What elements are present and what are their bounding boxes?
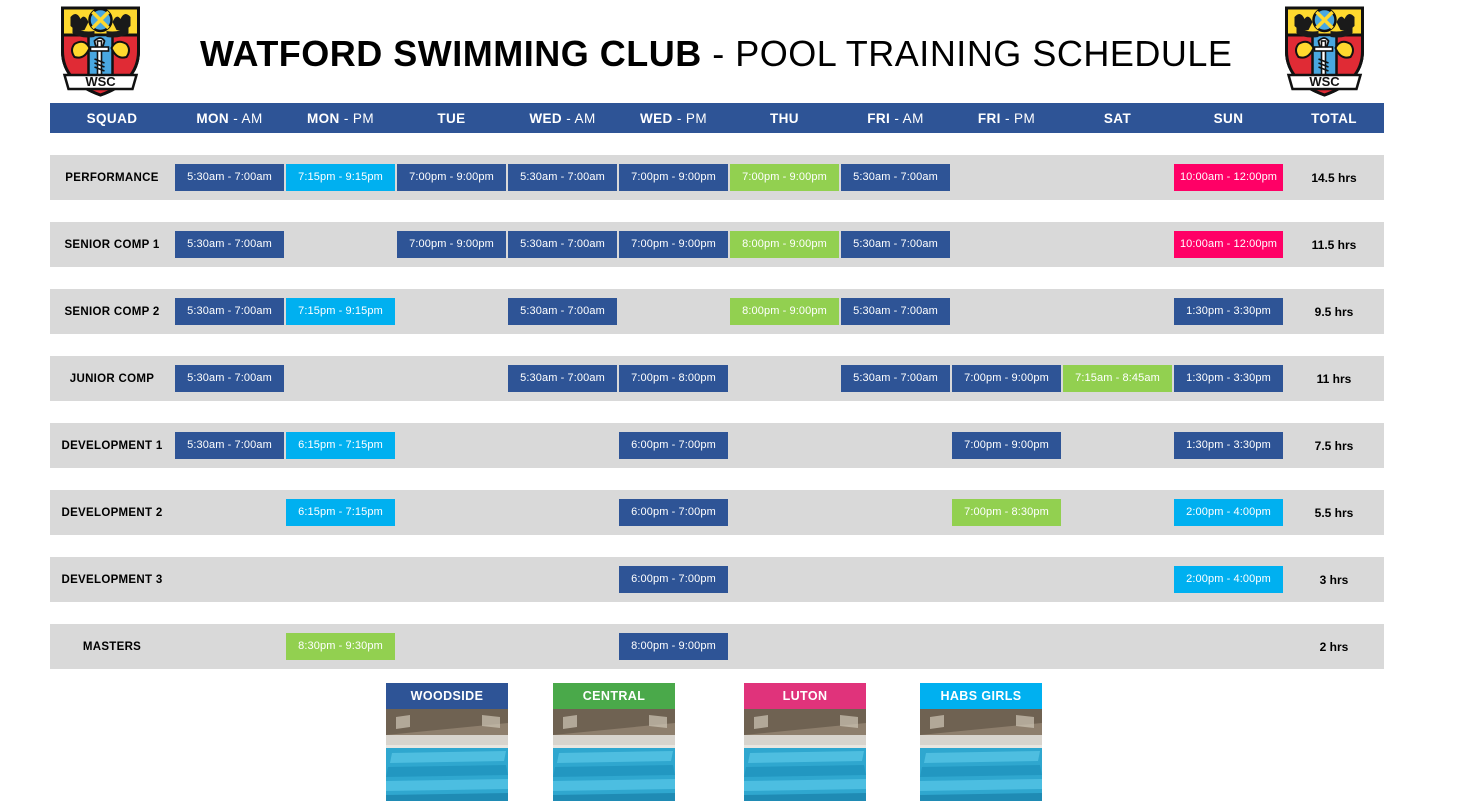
session-chip[interactable]: 7:00pm - 9:00pm — [397, 164, 506, 191]
pool-card-woodside[interactable]: WOODSIDE — [386, 683, 508, 801]
pool-photo — [920, 709, 1042, 801]
session-cell-mon_am[interactable]: 5:30am - 7:00am — [174, 289, 285, 334]
table-row[interactable]: DEVELOPMENT 36:00pm - 7:00pm2:00pm - 4:0… — [50, 557, 1384, 602]
table-row[interactable]: DEVELOPMENT 15:30am - 7:00am6:15pm - 7:1… — [50, 423, 1384, 468]
session-cell-thu — [729, 356, 840, 401]
session-chip[interactable]: 10:00am - 12:00pm — [1174, 164, 1283, 191]
column-header-wed_pm: WED - PM — [618, 111, 729, 126]
column-header-total: TOTAL — [1284, 111, 1384, 126]
row-spacer — [50, 602, 1384, 624]
session-cell-fri_pm — [951, 557, 1062, 602]
squad-name-cell: DEVELOPMENT 1 — [50, 440, 174, 452]
session-chip[interactable]: 2:00pm - 4:00pm — [1174, 566, 1283, 593]
session-cell-wed_am[interactable]: 5:30am - 7:00am — [507, 222, 618, 267]
session-chip[interactable]: 1:30pm - 3:30pm — [1174, 432, 1283, 459]
squad-name-cell: MASTERS — [50, 641, 174, 653]
session-chip[interactable]: 5:30am - 7:00am — [841, 164, 950, 191]
session-cell-fri_pm — [951, 155, 1062, 200]
session-chip[interactable]: 6:15pm - 7:15pm — [286, 432, 395, 459]
squad-name-cell: DEVELOPMENT 2 — [50, 507, 174, 519]
session-cell-sat — [1062, 222, 1173, 267]
session-chip[interactable]: 8:30pm - 9:30pm — [286, 633, 395, 660]
session-chip[interactable]: 1:30pm - 3:30pm — [1174, 298, 1283, 325]
session-chip[interactable]: 7:00pm - 9:00pm — [730, 164, 839, 191]
page-title: WATFORD SWIMMING CLUB - POOL TRAINING SC… — [200, 28, 1230, 82]
row-spacer — [50, 200, 1384, 222]
session-cell-sun[interactable]: 1:30pm - 3:30pm — [1173, 289, 1284, 334]
session-cell-fri_pm[interactable]: 7:00pm - 9:00pm — [951, 423, 1062, 468]
schedule-table: SQUADMON - AMMON - PMTUEWED - AMWED - PM… — [50, 103, 1384, 669]
session-chip[interactable]: 5:30am - 7:00am — [508, 231, 617, 258]
session-cell-sun[interactable]: 10:00am - 12:00pm — [1173, 222, 1284, 267]
session-chip[interactable]: 5:30am - 7:00am — [175, 298, 284, 325]
session-cell-sat[interactable]: 7:15am - 8:45am — [1062, 356, 1173, 401]
session-chip[interactable]: 5:30am - 7:00am — [508, 298, 617, 325]
column-header-label: WED — [529, 111, 562, 126]
session-chip[interactable]: 5:30am - 7:00am — [175, 432, 284, 459]
row-spacer — [50, 267, 1384, 289]
session-cell-wed_am — [507, 624, 618, 669]
pool-legend: WOODSIDECENTRALLUTONHABS GIRLS — [0, 683, 1472, 801]
column-header-label: SAT — [1104, 111, 1131, 126]
column-header-squad: SQUAD — [50, 111, 174, 126]
session-cell-mon_pm[interactable]: 7:15pm - 9:15pm — [285, 289, 396, 334]
session-cell-tue — [396, 490, 507, 535]
column-header-suffix: - PM — [340, 111, 374, 126]
session-chip[interactable]: 8:00pm - 9:00pm — [730, 298, 839, 325]
column-header-thu: THU — [729, 111, 840, 126]
session-chip[interactable]: 8:00pm - 9:00pm — [730, 231, 839, 258]
session-cell-mon_am — [174, 490, 285, 535]
pool-photo — [553, 709, 675, 801]
column-header-mon_pm: MON - PM — [285, 111, 396, 126]
session-cell-thu — [729, 423, 840, 468]
table-row[interactable]: MASTERS8:30pm - 9:30pm8:00pm - 9:00pm2 h… — [50, 624, 1384, 669]
session-cell-mon_am[interactable]: 5:30am - 7:00am — [174, 356, 285, 401]
session-cell-mon_pm[interactable]: 6:15pm - 7:15pm — [285, 490, 396, 535]
session-chip[interactable]: 10:00am - 12:00pm — [1174, 231, 1283, 258]
session-chip[interactable]: 5:30am - 7:00am — [175, 365, 284, 392]
session-cell-fri_am[interactable]: 5:30am - 7:00am — [840, 289, 951, 334]
session-cell-tue — [396, 557, 507, 602]
session-chip[interactable]: 2:00pm - 4:00pm — [1174, 499, 1283, 526]
session-cell-wed_pm — [618, 289, 729, 334]
session-cell-wed_am — [507, 490, 618, 535]
crest-text: WSC — [85, 74, 116, 89]
session-cell-wed_am[interactable]: 5:30am - 7:00am — [507, 356, 618, 401]
session-cell-sun — [1173, 624, 1284, 669]
session-chip[interactable]: 6:00pm - 7:00pm — [619, 432, 728, 459]
row-spacer — [50, 334, 1384, 356]
session-chip[interactable]: 6:00pm - 7:00pm — [619, 499, 728, 526]
session-cell-mon_pm — [285, 557, 396, 602]
table-row[interactable]: PERFORMANCE5:30am - 7:00am7:15pm - 9:15p… — [50, 155, 1384, 200]
session-cell-thu — [729, 557, 840, 602]
column-header-label: FRI — [867, 111, 890, 126]
column-header-wed_am: WED - AM — [507, 111, 618, 126]
column-header-mon_am: MON - AM — [174, 111, 285, 126]
session-cell-sat — [1062, 289, 1173, 334]
session-chip[interactable]: 6:00pm - 7:00pm — [619, 566, 728, 593]
pool-name-label: CENTRAL — [553, 683, 675, 709]
column-header-label: THU — [770, 111, 799, 126]
pool-name-label: WOODSIDE — [386, 683, 508, 709]
total-hours-cell: 5.5 hrs — [1284, 506, 1384, 520]
session-chip[interactable]: 1:30pm - 3:30pm — [1174, 365, 1283, 392]
total-hours-cell: 11.5 hrs — [1284, 238, 1384, 252]
total-hours-cell: 3 hrs — [1284, 573, 1384, 587]
total-hours-cell: 11 hrs — [1284, 372, 1384, 386]
total-hours-cell: 14.5 hrs — [1284, 171, 1384, 185]
session-chip[interactable]: 7:00pm - 9:00pm — [619, 164, 728, 191]
session-cell-wed_pm[interactable]: 8:00pm - 9:00pm — [618, 624, 729, 669]
session-cell-sun[interactable]: 10:00am - 12:00pm — [1173, 155, 1284, 200]
session-chip[interactable]: 7:00pm - 9:00pm — [952, 432, 1061, 459]
session-cell-fri_am[interactable]: 5:30am - 7:00am — [840, 222, 951, 267]
session-chip[interactable]: 5:30am - 7:00am — [841, 231, 950, 258]
session-cell-fri_am — [840, 624, 951, 669]
table-row[interactable]: JUNIOR COMP5:30am - 7:00am5:30am - 7:00a… — [50, 356, 1384, 401]
session-cell-thu — [729, 490, 840, 535]
pool-card-luton[interactable]: LUTON — [744, 683, 866, 801]
session-cell-fri_am — [840, 557, 951, 602]
session-cell-tue[interactable]: 7:00pm - 9:00pm — [396, 155, 507, 200]
column-header-sun: SUN — [1173, 111, 1284, 126]
column-header-suffix: - AM — [562, 111, 596, 126]
session-cell-sat — [1062, 624, 1173, 669]
session-cell-mon_am — [174, 557, 285, 602]
session-cell-fri_am[interactable]: 5:30am - 7:00am — [840, 155, 951, 200]
session-cell-sun[interactable]: 2:00pm - 4:00pm — [1173, 490, 1284, 535]
pool-photo — [744, 709, 866, 801]
session-cell-mon_pm[interactable]: 7:15pm - 9:15pm — [285, 155, 396, 200]
session-cell-fri_pm — [951, 624, 1062, 669]
squad-name-cell: SENIOR COMP 1 — [50, 239, 174, 251]
column-header-suffix: - PM — [673, 111, 707, 126]
session-cell-fri_pm[interactable]: 7:00pm - 8:30pm — [951, 490, 1062, 535]
session-cell-fri_pm — [951, 289, 1062, 334]
session-chip[interactable]: 6:15pm - 7:15pm — [286, 499, 395, 526]
session-chip[interactable]: 5:30am - 7:00am — [841, 298, 950, 325]
page-title-light: - POOL TRAINING SCHEDULE — [702, 33, 1233, 74]
crest-text: WSC — [1309, 74, 1340, 89]
session-cell-fri_pm[interactable]: 7:00pm - 9:00pm — [951, 356, 1062, 401]
session-cell-mon_pm[interactable]: 8:30pm - 9:30pm — [285, 624, 396, 669]
pool-card-habs-girls[interactable]: HABS GIRLS — [920, 683, 1042, 801]
row-spacer — [50, 468, 1384, 490]
session-cell-sun[interactable]: 2:00pm - 4:00pm — [1173, 557, 1284, 602]
session-cell-wed_pm[interactable]: 6:00pm - 7:00pm — [618, 423, 729, 468]
column-header-fri_am: FRI - AM — [840, 111, 951, 126]
column-header-label: SQUAD — [87, 111, 138, 126]
session-cell-tue — [396, 356, 507, 401]
session-cell-fri_pm — [951, 222, 1062, 267]
total-hours-cell: 2 hrs — [1284, 640, 1384, 654]
page-title-bold: WATFORD SWIMMING CLUB — [200, 33, 702, 74]
column-header-suffix: - AM — [229, 111, 263, 126]
session-cell-sat — [1062, 155, 1173, 200]
total-hours-cell: 7.5 hrs — [1284, 439, 1384, 453]
table-row[interactable]: SENIOR COMP 15:30am - 7:00am7:00pm - 9:0… — [50, 222, 1384, 267]
column-header-tue: TUE — [396, 111, 507, 126]
session-cell-wed_pm[interactable]: 7:00pm - 8:00pm — [618, 356, 729, 401]
session-cell-fri_am — [840, 490, 951, 535]
session-chip[interactable]: 7:00pm - 9:00pm — [619, 231, 728, 258]
table-body: PERFORMANCE5:30am - 7:00am7:15pm - 9:15p… — [50, 133, 1384, 669]
session-cell-wed_pm[interactable]: 7:00pm - 9:00pm — [618, 155, 729, 200]
column-header-suffix: - AM — [890, 111, 924, 126]
session-cell-tue[interactable]: 7:00pm - 9:00pm — [396, 222, 507, 267]
squad-name-cell: SENIOR COMP 2 — [50, 306, 174, 318]
table-row[interactable]: SENIOR COMP 25:30am - 7:00am7:15pm - 9:1… — [50, 289, 1384, 334]
session-cell-wed_am[interactable]: 5:30am - 7:00am — [507, 289, 618, 334]
session-cell-wed_am — [507, 557, 618, 602]
session-chip[interactable]: 5:30am - 7:00am — [175, 164, 284, 191]
row-spacer — [50, 401, 1384, 423]
table-header-row: SQUADMON - AMMON - PMTUEWED - AMWED - PM… — [50, 103, 1384, 133]
squad-name-cell: DEVELOPMENT 3 — [50, 574, 174, 586]
column-header-label: SUN — [1214, 111, 1244, 126]
session-cell-fri_am — [840, 423, 951, 468]
squad-name-cell: JUNIOR COMP — [50, 373, 174, 385]
session-cell-sun[interactable]: 1:30pm - 3:30pm — [1173, 356, 1284, 401]
session-chip[interactable]: 5:30am - 7:00am — [175, 231, 284, 258]
club-crest-left-icon: WSC — [48, 3, 153, 98]
session-cell-sun[interactable]: 1:30pm - 3:30pm — [1173, 423, 1284, 468]
session-cell-sat — [1062, 557, 1173, 602]
session-chip[interactable]: 5:30am - 7:00am — [841, 365, 950, 392]
session-chip[interactable]: 7:00pm - 8:30pm — [952, 499, 1061, 526]
session-cell-wed_pm[interactable]: 6:00pm - 7:00pm — [618, 557, 729, 602]
session-cell-wed_am[interactable]: 5:30am - 7:00am — [507, 155, 618, 200]
column-header-label: TOTAL — [1311, 111, 1357, 126]
session-chip[interactable]: 5:30am - 7:00am — [508, 365, 617, 392]
total-hours-cell: 9.5 hrs — [1284, 305, 1384, 319]
session-chip[interactable]: 7:00pm - 9:00pm — [952, 365, 1061, 392]
row-spacer — [50, 535, 1384, 557]
session-cell-mon_pm — [285, 222, 396, 267]
column-header-suffix: - PM — [1001, 111, 1035, 126]
session-chip[interactable]: 7:15pm - 9:15pm — [286, 164, 395, 191]
session-cell-wed_pm[interactable]: 7:00pm - 9:00pm — [618, 222, 729, 267]
session-chip[interactable]: 5:30am - 7:00am — [508, 164, 617, 191]
session-chip[interactable]: 7:15am - 8:45am — [1063, 365, 1172, 392]
schedule-page: WSC WATFORD SWIMMING CLUB - POOL TRAININ… — [0, 0, 1472, 801]
session-cell-sat — [1062, 423, 1173, 468]
session-cell-wed_pm[interactable]: 6:00pm - 7:00pm — [618, 490, 729, 535]
column-header-label: FRI — [978, 111, 1001, 126]
pool-photo — [386, 709, 508, 801]
session-cell-mon_am[interactable]: 5:30am - 7:00am — [174, 423, 285, 468]
column-header-label: TUE — [437, 111, 465, 126]
pool-card-central[interactable]: CENTRAL — [553, 683, 675, 801]
session-cell-fri_am[interactable]: 5:30am - 7:00am — [840, 356, 951, 401]
pool-name-label: HABS GIRLS — [920, 683, 1042, 709]
session-cell-tue — [396, 423, 507, 468]
column-header-fri_pm: FRI - PM — [951, 111, 1062, 126]
session-cell-thu[interactable]: 8:00pm - 9:00pm — [729, 222, 840, 267]
session-cell-mon_am[interactable]: 5:30am - 7:00am — [174, 155, 285, 200]
table-row[interactable]: DEVELOPMENT 26:15pm - 7:15pm6:00pm - 7:0… — [50, 490, 1384, 535]
session-cell-tue — [396, 624, 507, 669]
session-cell-thu[interactable]: 8:00pm - 9:00pm — [729, 289, 840, 334]
pool-name-label: LUTON — [744, 683, 866, 709]
session-chip[interactable]: 8:00pm - 9:00pm — [619, 633, 728, 660]
column-header-label: MON — [196, 111, 229, 126]
session-chip[interactable]: 7:00pm - 8:00pm — [619, 365, 728, 392]
session-cell-mon_pm[interactable]: 6:15pm - 7:15pm — [285, 423, 396, 468]
session-cell-thu[interactable]: 7:00pm - 9:00pm — [729, 155, 840, 200]
session-cell-tue — [396, 289, 507, 334]
session-cell-sat — [1062, 490, 1173, 535]
column-header-label: MON — [307, 111, 340, 126]
session-cell-mon_pm — [285, 356, 396, 401]
column-header-sat: SAT — [1062, 111, 1173, 126]
row-spacer — [50, 133, 1384, 155]
page-header: WSC WATFORD SWIMMING CLUB - POOL TRAININ… — [0, 0, 1472, 100]
session-chip[interactable]: 7:15pm - 9:15pm — [286, 298, 395, 325]
column-header-label: WED — [640, 111, 673, 126]
session-cell-wed_am — [507, 423, 618, 468]
session-cell-thu — [729, 624, 840, 669]
session-cell-mon_am[interactable]: 5:30am - 7:00am — [174, 222, 285, 267]
club-crest-right-icon: WSC — [1272, 3, 1377, 98]
squad-name-cell: PERFORMANCE — [50, 172, 174, 184]
session-chip[interactable]: 7:00pm - 9:00pm — [397, 231, 506, 258]
session-cell-mon_am — [174, 624, 285, 669]
